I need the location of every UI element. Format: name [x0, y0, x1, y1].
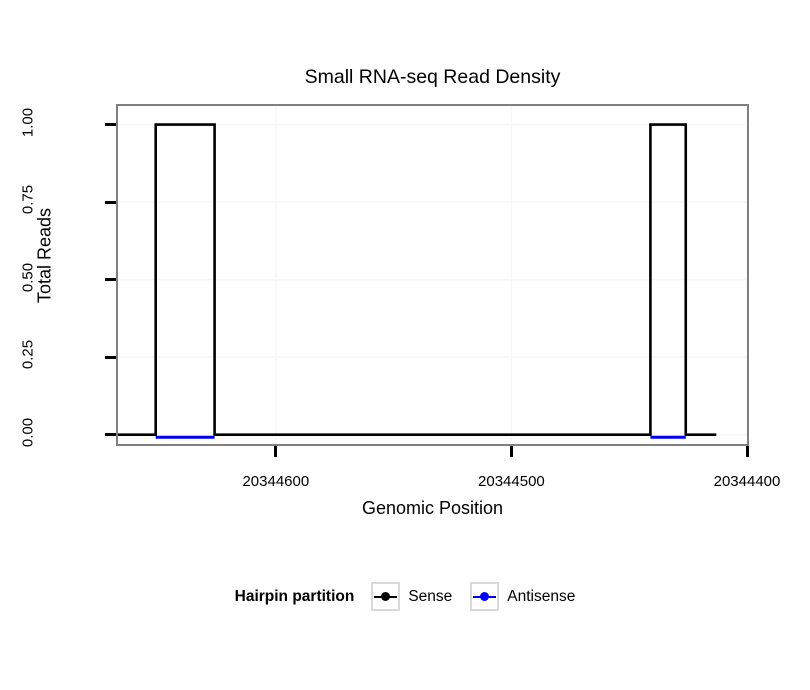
y-tick-label: 1.00	[20, 92, 37, 152]
x-tick-label: 20344600	[206, 473, 346, 490]
chart-legend: Hairpin partition SenseAntisense	[0, 582, 810, 611]
legend-key-antisense	[470, 582, 499, 611]
y-tick-label: 0.75	[20, 170, 37, 230]
legend-key-point	[381, 592, 390, 601]
legend-item-sense[interactable]: Sense	[371, 582, 470, 611]
x-tick-label: 20344400	[677, 473, 810, 490]
y-tick-mark	[105, 356, 116, 359]
y-tick-label: 0.00	[20, 402, 37, 462]
x-tick-mark	[510, 446, 513, 457]
x-axis-title: Genomic Position	[116, 498, 749, 519]
y-tick-mark	[105, 201, 116, 204]
y-axis-title: Total Reads	[35, 176, 56, 336]
y-tick-mark	[105, 433, 116, 436]
x-tick-mark	[746, 446, 749, 457]
y-tick-mark	[105, 278, 116, 281]
legend-entries: SenseAntisense	[371, 582, 575, 611]
plot-panel	[116, 104, 749, 446]
plot-area	[118, 106, 747, 444]
chart-title: Small RNA-seq Read Density	[116, 66, 749, 89]
chart-figure: Small RNA-seq Read Density Total Reads G…	[0, 0, 810, 690]
x-tick-label: 20344500	[441, 473, 581, 490]
legend-key-point	[480, 592, 489, 601]
legend-title: Hairpin partition	[235, 588, 355, 606]
y-tick-label: 0.25	[20, 325, 37, 385]
x-tick-mark	[274, 446, 277, 457]
y-tick-label: 0.50	[20, 247, 37, 307]
y-tick-mark	[105, 123, 116, 126]
plot-svg	[118, 106, 747, 444]
legend-label: Antisense	[507, 588, 575, 606]
legend-label: Sense	[408, 588, 452, 606]
legend-item-antisense[interactable]: Antisense	[470, 582, 575, 611]
legend-key-sense	[371, 582, 400, 611]
